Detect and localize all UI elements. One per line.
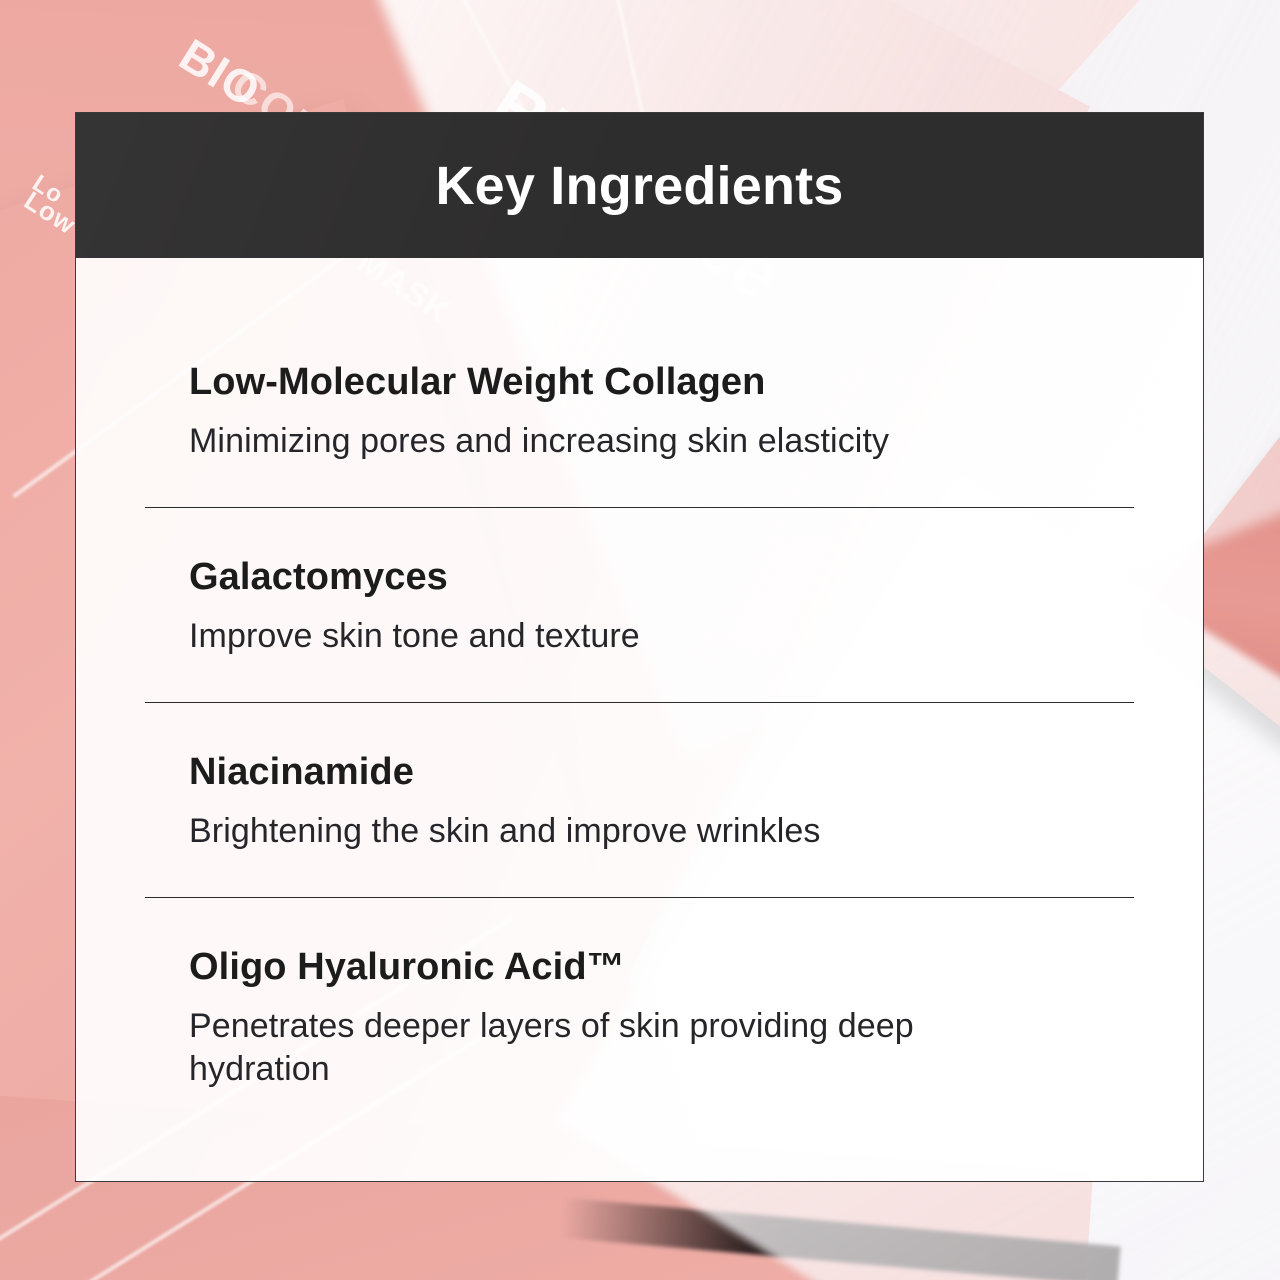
list-item: Low-Molecular Weight Collagen Minimizing…: [76, 361, 1203, 463]
ingredient-description: Minimizing pores and increasing skin ela…: [189, 420, 1143, 464]
ingredient-list: Low-Molecular Weight Collagen Minimizing…: [76, 258, 1203, 1181]
list-item: Galactomyces Improve skin tone and textu…: [76, 556, 1203, 658]
screenshot-stage: BIO COLLAGEN MASK Biodance Low M Lo MASK…: [0, 0, 1280, 1280]
key-ingredients-card: MASK Biodance Key Ingredients Low-Molecu…: [75, 112, 1204, 1182]
ingredient-description: Penetrates deeper layers of skin providi…: [189, 1005, 1009, 1092]
page-title: Key Ingredients: [435, 159, 843, 213]
ingredient-description: Improve skin tone and texture: [189, 615, 1143, 659]
list-item: Oligo Hyaluronic Acid™ Penetrates deeper…: [76, 946, 1203, 1092]
card-header: Key Ingredients: [76, 113, 1203, 258]
ingredient-name: Galactomyces: [189, 556, 1143, 599]
ingredient-name: Oligo Hyaluronic Acid™: [189, 946, 1143, 989]
ingredient-name: Low-Molecular Weight Collagen: [189, 361, 1143, 404]
ingredient-description: Brightening the skin and improve wrinkle…: [189, 810, 1143, 854]
list-item: Niacinamide Brightening the skin and imp…: [76, 751, 1203, 853]
ingredient-name: Niacinamide: [189, 751, 1143, 794]
